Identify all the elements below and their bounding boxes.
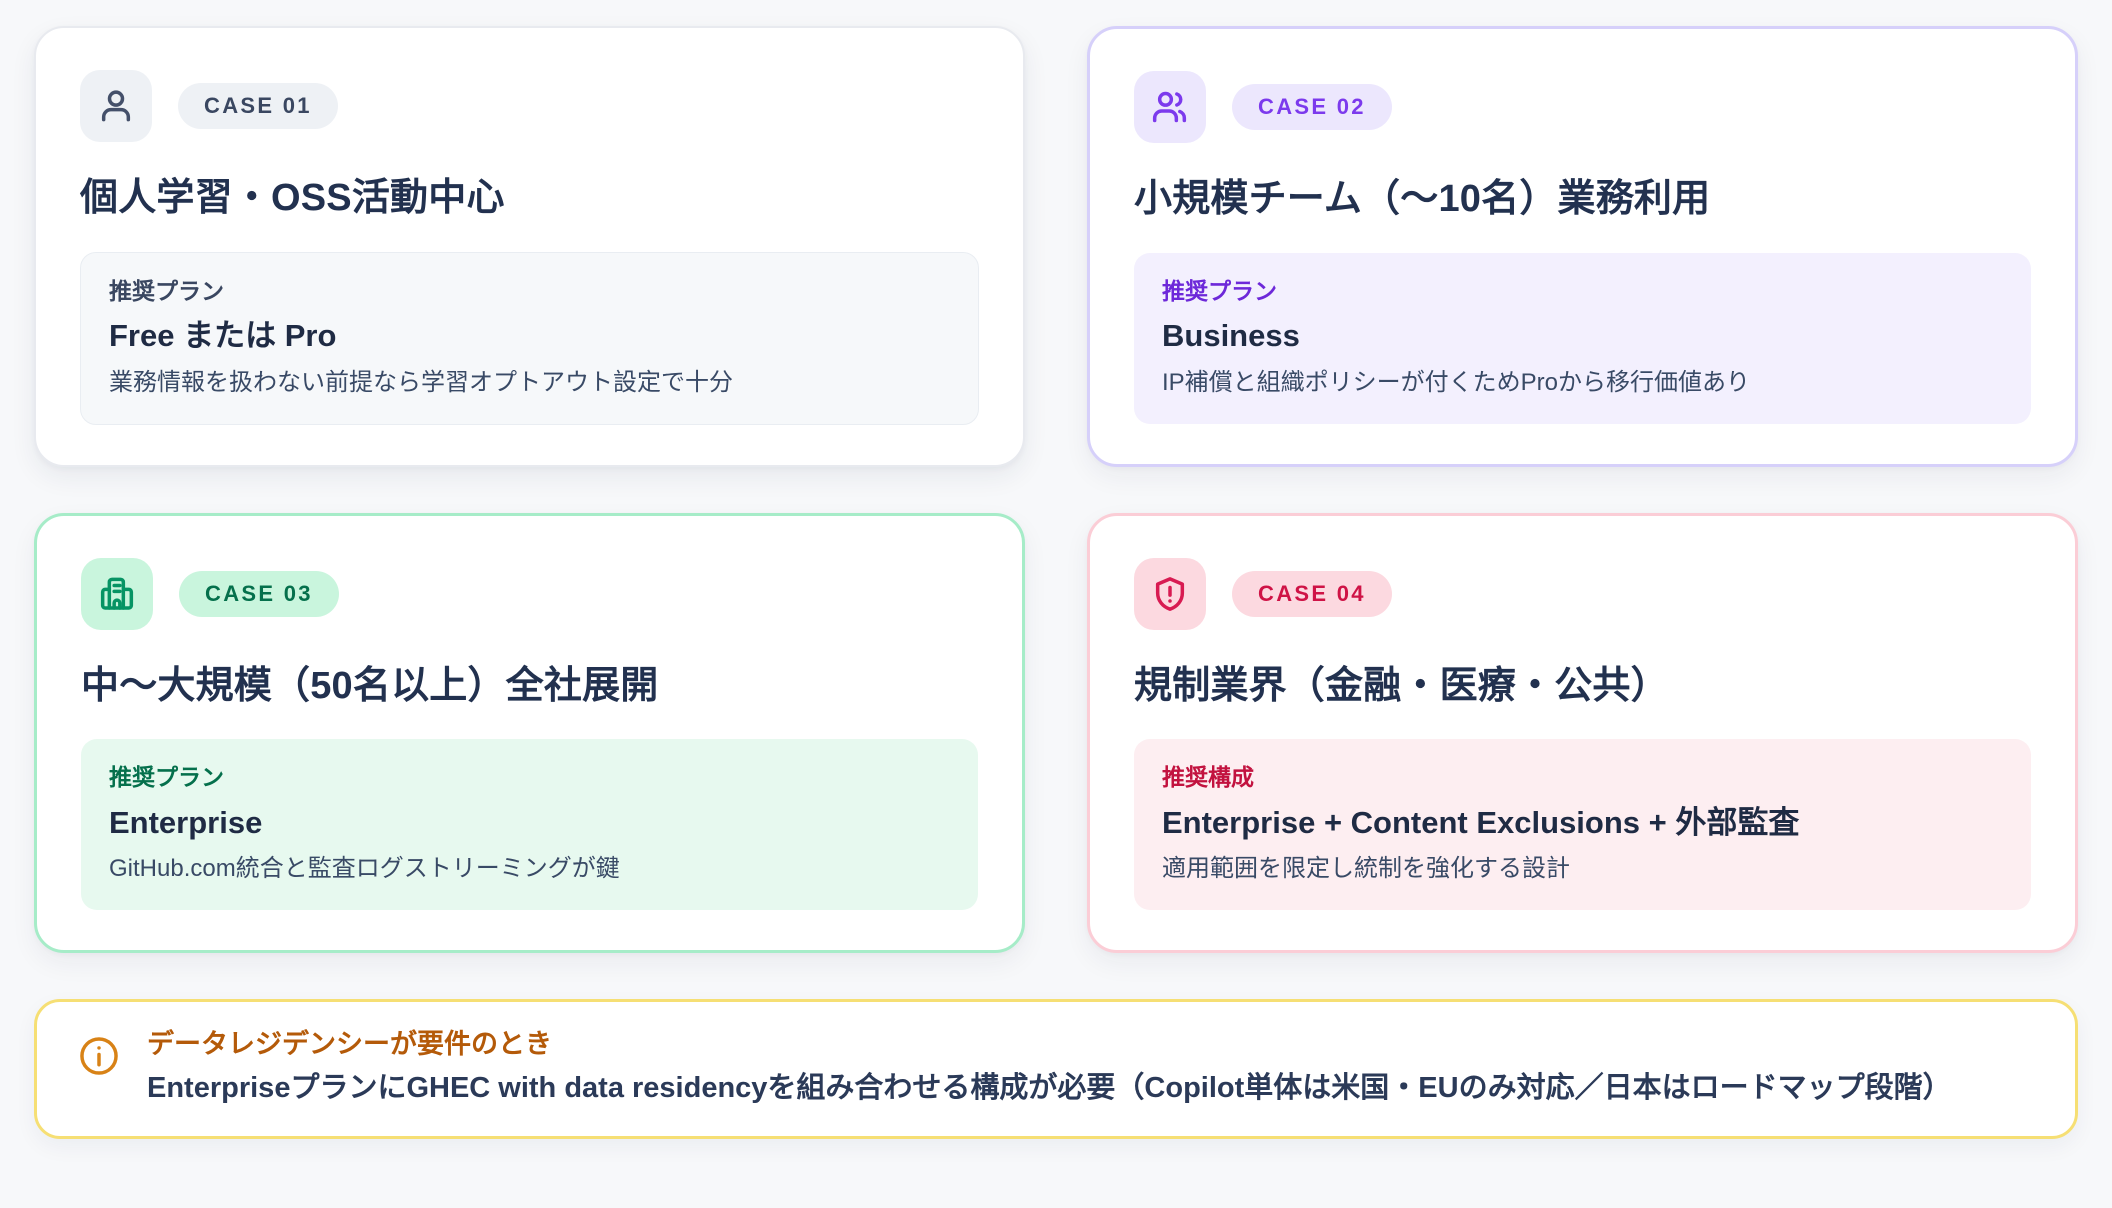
page-canvas: CASE 01 個人学習・OSS活動中心 推奨プラン Free または Pro … [0, 0, 2112, 1208]
user-icon [96, 86, 136, 126]
plan-note: 業務情報を扱わない前提なら学習オプトアウト設定で十分 [109, 367, 950, 398]
plan-note: IP補償と組織ポリシーが付くためProから移行価値あり [1162, 367, 2003, 398]
plan-note: 適用範囲を限定し統制を強化する設計 [1162, 853, 2003, 884]
plan-name: Enterprise + Content Exclusions + 外部監査 [1162, 804, 2003, 841]
card-title: 個人学習・OSS活動中心 [80, 176, 979, 222]
shield-alert-icon [1150, 574, 1190, 614]
card-header: CASE 01 [80, 70, 979, 142]
users-icon-tile [1134, 71, 1206, 143]
recommended-plan-box: 推奨プラン Business IP補償と組織ポリシーが付くためProから移行価値… [1134, 253, 2031, 424]
card-title: 中〜大規模（50名以上）全社展開 [81, 664, 978, 710]
case-card-04[interactable]: CASE 04 規制業界（金融・医療・公共） 推奨構成 Enterprise +… [1087, 513, 2078, 954]
card-header: CASE 02 [1134, 71, 2031, 143]
recommended-plan-box: 推奨プラン Free または Pro 業務情報を扱わない前提なら学習オプトアウト… [80, 252, 979, 425]
plan-note: GitHub.com統合と監査ログストリーミングが鍵 [109, 853, 950, 884]
recommended-plan-box: 推奨プラン Enterprise GitHub.com統合と監査ログストリーミン… [81, 739, 978, 910]
recommended-plan-box: 推奨構成 Enterprise + Content Exclusions + 外… [1134, 739, 2031, 910]
card-title: 規制業界（金融・医療・公共） [1134, 664, 2031, 710]
shield-alert-icon-tile [1134, 558, 1206, 630]
plan-name: Free または Pro [109, 317, 950, 354]
case-badge: CASE 02 [1232, 84, 1392, 130]
case-badge: CASE 04 [1232, 571, 1392, 617]
banner-title: データレジデンシーが要件のとき [147, 1028, 1952, 1062]
plan-label: 推奨プラン [109, 763, 950, 792]
info-circle-icon-wrap [77, 1034, 121, 1078]
case-card-grid: CASE 01 個人学習・OSS活動中心 推奨プラン Free または Pro … [34, 26, 2078, 953]
plan-label: 推奨プラン [109, 277, 950, 306]
data-residency-banner: データレジデンシーが要件のとき EnterpriseプランにGHEC with … [34, 999, 2078, 1138]
case-card-03[interactable]: CASE 03 中〜大規模（50名以上）全社展開 推奨プラン Enterpris… [34, 513, 1025, 954]
plan-label: 推奨構成 [1162, 763, 2003, 792]
info-circle-icon [77, 1034, 121, 1078]
plan-name: Enterprise [109, 804, 950, 841]
card-title: 小規模チーム（〜10名）業務利用 [1134, 177, 2031, 223]
case-badge: CASE 01 [178, 83, 338, 129]
case-card-01[interactable]: CASE 01 個人学習・OSS活動中心 推奨プラン Free または Pro … [34, 26, 1025, 467]
banner-body: データレジデンシーが要件のとき EnterpriseプランにGHEC with … [147, 1028, 1952, 1107]
building-icon-tile [81, 558, 153, 630]
banner-text: EnterpriseプランにGHEC with data residencyを組… [147, 1070, 1952, 1108]
case-badge: CASE 03 [179, 571, 339, 617]
card-header: CASE 03 [81, 558, 978, 630]
case-card-02[interactable]: CASE 02 小規模チーム（〜10名）業務利用 推奨プラン Business … [1087, 26, 2078, 467]
plan-name: Business [1162, 317, 2003, 354]
building-icon [97, 574, 137, 614]
plan-label: 推奨プラン [1162, 277, 2003, 306]
users-icon [1150, 87, 1190, 127]
user-icon-tile [80, 70, 152, 142]
card-header: CASE 04 [1134, 558, 2031, 630]
